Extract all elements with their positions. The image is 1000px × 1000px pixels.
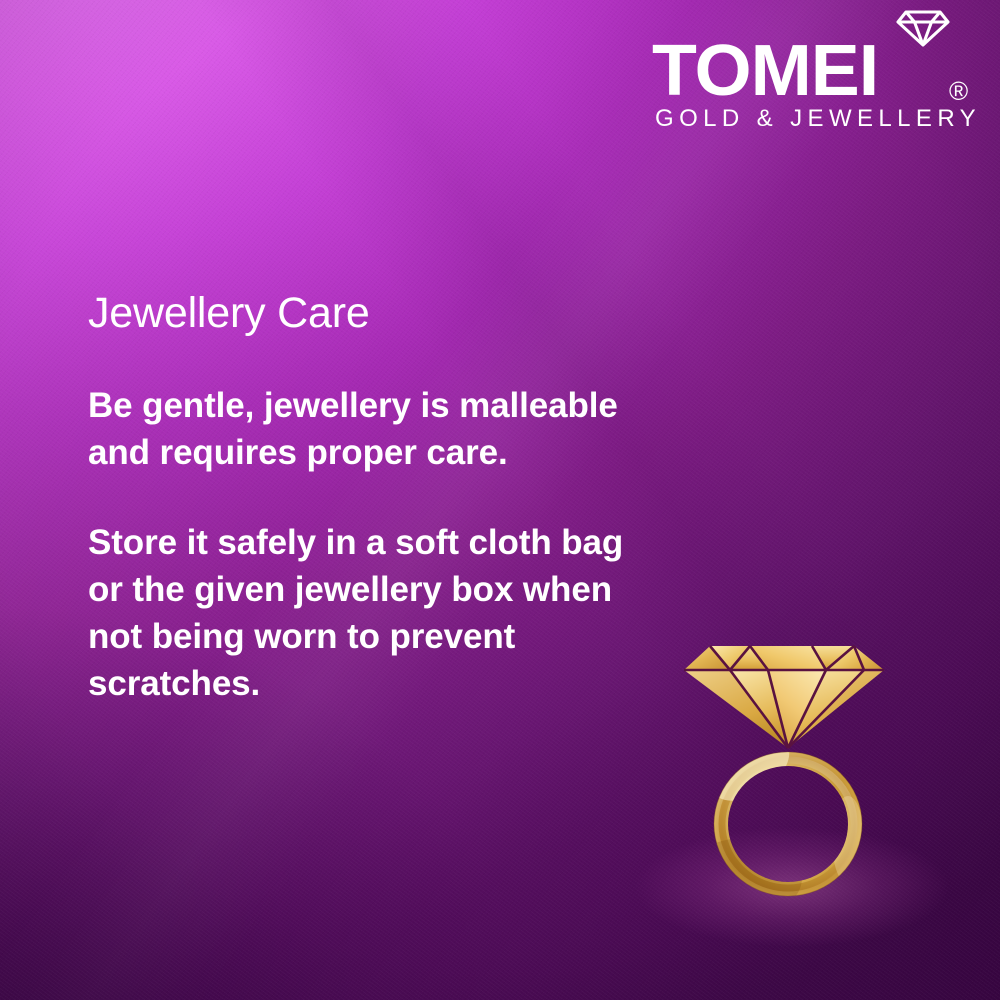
tomei-logo: TOMEI ® GOLD & JEWELLERY	[652, 30, 982, 145]
page-title: Jewellery Care	[88, 288, 648, 338]
ring-band-icon	[686, 722, 864, 918]
registered-trademark-symbol: ®	[949, 78, 968, 104]
tomei-tagline: GOLD & JEWELLERY	[655, 106, 981, 132]
gem-icon	[684, 646, 884, 748]
diamond-ring-graphic	[672, 628, 904, 928]
care-paragraph-1: Be gentle, jewellery is malleable and re…	[88, 382, 633, 476]
care-paragraph-2: Store it safely in a soft cloth bag or t…	[88, 519, 633, 707]
tomei-wordmark: TOMEI	[652, 36, 878, 106]
tomei-wordmark-row: TOMEI ®	[652, 36, 982, 106]
diamond-ring-illustration	[672, 628, 904, 928]
copy-block: Jewellery Care Be gentle, jewellery is m…	[88, 288, 648, 707]
jewellery-care-poster: TOMEI ® GOLD & JEWELLERY Jewellery Care …	[0, 0, 1000, 1000]
